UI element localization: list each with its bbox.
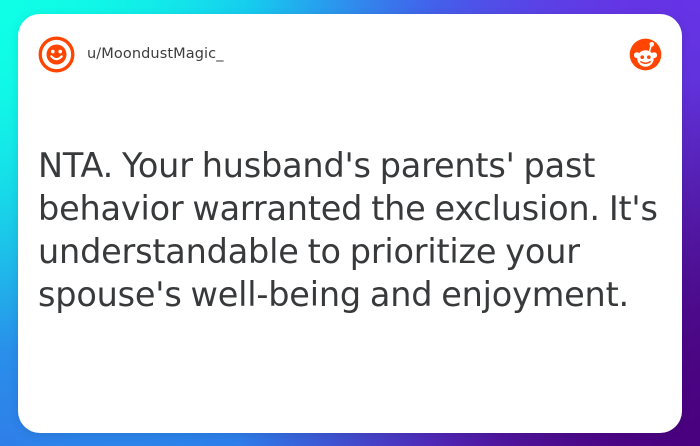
comment-text: NTA. Your husband's parents' past behavi… (38, 144, 658, 316)
gradient-background: u/MoondustMagic_ NTA. Your husband's par… (0, 0, 700, 446)
reddit-comment-card: u/MoondustMagic_ NTA. Your husband's par… (18, 14, 682, 433)
comment-header: u/MoondustMagic_ (18, 14, 682, 94)
smiley-face-avatar-icon[interactable] (38, 36, 75, 73)
reddit-snoo-icon[interactable] (629, 38, 662, 71)
username-label[interactable]: u/MoondustMagic_ (87, 46, 224, 62)
